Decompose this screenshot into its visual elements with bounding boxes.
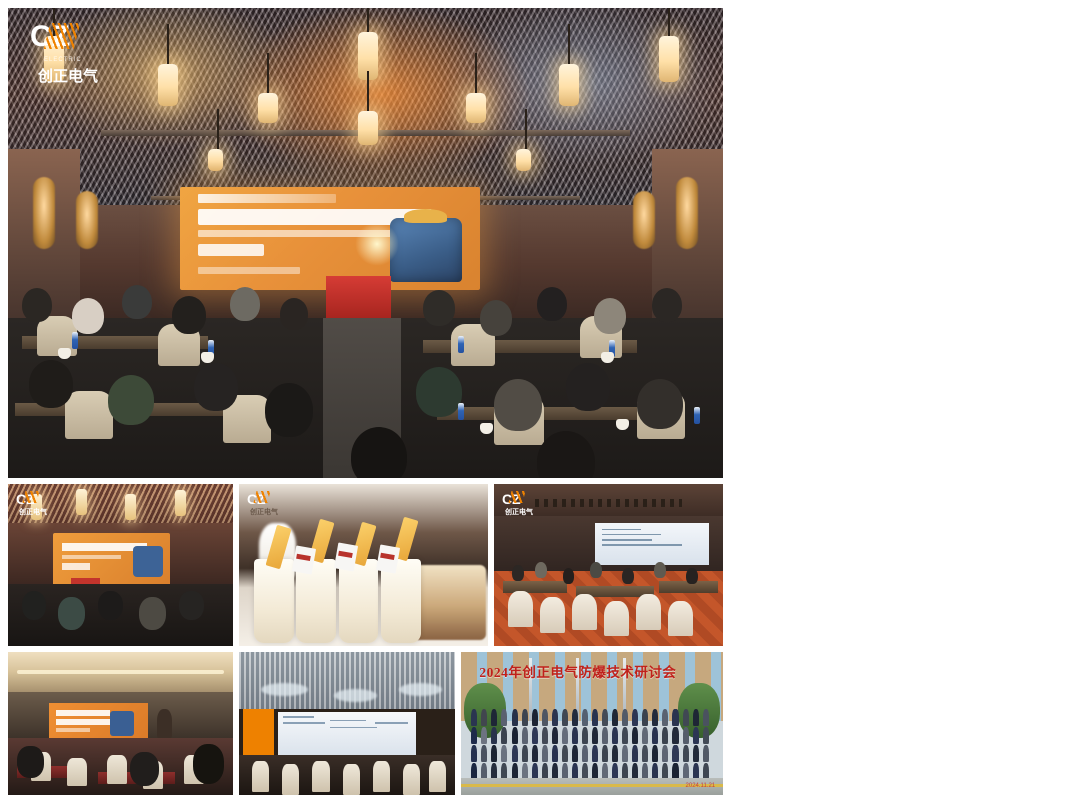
pendant-lamp: [158, 64, 178, 106]
pendant-lamp: [358, 111, 378, 145]
wall-sconce: [633, 191, 655, 249]
thumbnail-stage-presentation[interactable]: CZ 创正电气: [8, 484, 233, 646]
thumbnail-wide-hall-screen[interactable]: [239, 652, 455, 795]
accent-panel: 09 合作共赢 创正电气防爆技术 研讨会圆满召开: [734, 0, 1080, 795]
pendant-lamp: [258, 93, 278, 123]
slide-number: 09: [794, 160, 1034, 355]
panel-subtitle-line2: 研讨会圆满召开: [794, 678, 997, 718]
photo-collage: CZ ELECTRIC 创正电气: [8, 8, 723, 787]
pendant-lamp: [659, 36, 679, 82]
pendant-lamp: [466, 93, 486, 123]
speaker: [157, 709, 173, 738]
pendant-lamp: [208, 149, 223, 171]
audience: [8, 281, 723, 478]
panel-headline: 合作共赢: [794, 572, 966, 632]
wall-sconce: [76, 191, 98, 249]
screen-year-bar: [198, 244, 264, 255]
slide-page: CZ ELECTRIC 创正电气: [0, 0, 1080, 795]
panel-subtitle-line1: 创正电气防爆技术: [794, 638, 1026, 678]
robot-light-glow: [355, 222, 399, 266]
thumbnail-dessert-table[interactable]: CZ 创正电气: [239, 484, 488, 646]
thumbnail-group-photo[interactable]: 2024年创正电气防爆技术研讨会: [461, 652, 723, 795]
screen-logo-bar: [198, 194, 336, 203]
group-photo-banner: 2024年创正电气防爆技术研讨会: [479, 661, 704, 680]
screen-footer-bar: [198, 267, 300, 274]
wall-sconce: [676, 177, 698, 249]
thumbnail-orange-led-stage[interactable]: [8, 652, 233, 795]
thumbnail-banquet-hall[interactable]: CZ 创正电气: [494, 484, 723, 646]
photo-date-stamp: 2024.11.21: [686, 783, 716, 789]
robot-mascot: [390, 218, 462, 282]
people-rows: [466, 709, 718, 781]
hero-photo[interactable]: CZ ELECTRIC 创正电气: [8, 8, 723, 478]
presentation-screen: [278, 712, 416, 755]
pendant-lamp: [44, 36, 64, 82]
wall-sconce: [33, 177, 55, 249]
pendant-lamp: [516, 149, 531, 171]
presentation-screen: [595, 523, 710, 565]
stage-screen: [180, 187, 480, 290]
pendant-lamp: [559, 64, 579, 106]
